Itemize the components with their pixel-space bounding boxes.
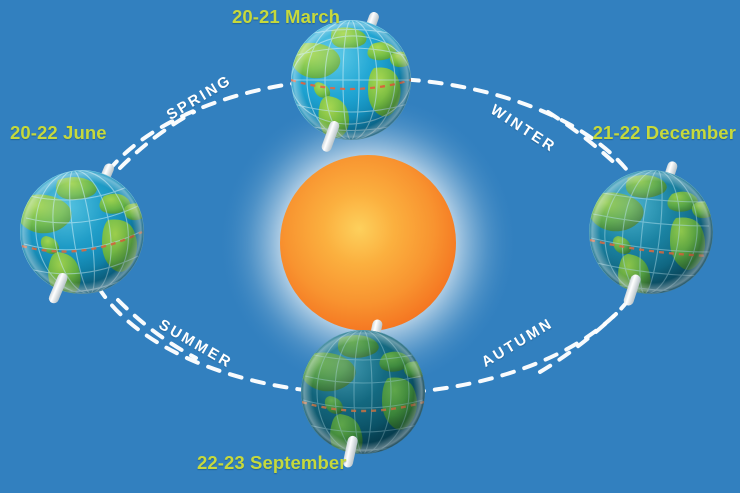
globe-december [588, 160, 714, 307]
diagram-canvas [0, 0, 740, 493]
seasons-diagram: 20-21 March 20-22 June 21-22 December 22… [0, 0, 740, 493]
date-label-march: 20-21 March [232, 6, 340, 28]
sun-disc [280, 155, 456, 331]
date-label-june: 20-22 June [10, 122, 107, 144]
globe-surface-december [588, 166, 714, 301]
date-label-december: 21-22 December [593, 122, 736, 144]
globe-surface-september [300, 330, 426, 460]
globe-june [16, 162, 146, 305]
globe-surface-june [16, 164, 146, 300]
date-label-september: 22-23 September [197, 452, 347, 474]
